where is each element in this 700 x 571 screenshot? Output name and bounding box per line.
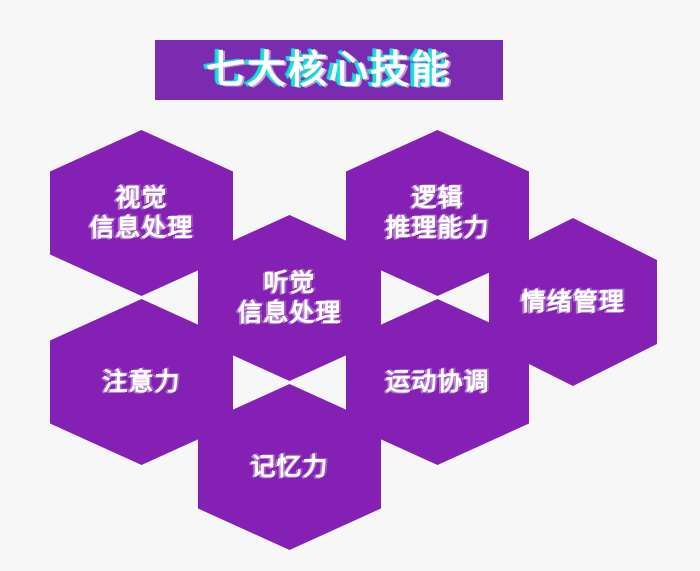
- hexagon-label: 记忆力: [244, 453, 334, 482]
- hexagon-label-line: 运动协调: [385, 368, 489, 397]
- hexagon-label-line: 听觉: [237, 269, 341, 298]
- hexagon-label-line: 视觉: [89, 184, 193, 213]
- hexagon-grid: 视觉 信息处理 听觉 信息处理 逻辑 推理能力 情绪管理 注意力: [0, 0, 700, 571]
- hexagon-label-line: 信息处理: [89, 214, 193, 243]
- hexagon-label: 视觉 信息处理: [83, 184, 199, 242]
- hexagon-label: 情绪管理: [515, 288, 631, 317]
- hexagon-label-line: 逻辑: [385, 184, 489, 213]
- hexagon-label-line: 信息处理: [237, 299, 341, 328]
- hexagon-label-line: 推理能力: [385, 214, 489, 243]
- hexagon-label: 运动协调: [379, 368, 495, 397]
- hexagon-label: 听觉 信息处理: [231, 269, 347, 327]
- hexagon-label-line: 注意力: [102, 368, 180, 397]
- hexagon-label-line: 情绪管理: [521, 288, 625, 317]
- hexagon-label: 逻辑 推理能力: [379, 184, 495, 242]
- hexagon-label-line: 记忆力: [250, 453, 328, 482]
- infographic-canvas: 七大核心技能 视觉 信息处理 听觉 信息处理 逻辑 推理能力 情绪管理: [0, 0, 700, 571]
- hexagon-label: 注意力: [96, 368, 186, 397]
